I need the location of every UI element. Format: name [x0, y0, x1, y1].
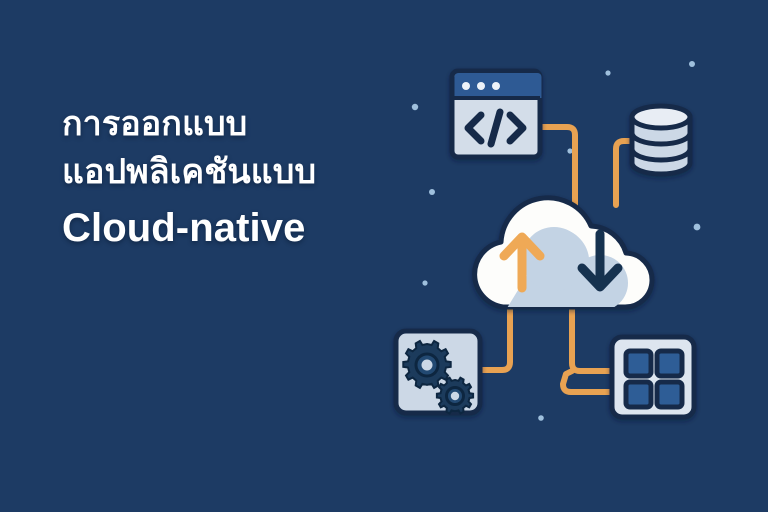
- decor-dot: [429, 189, 435, 195]
- grid-cell-bottom-right: [657, 382, 682, 407]
- window-dot: [492, 82, 500, 90]
- database-disc-top: [632, 106, 690, 128]
- window-dot: [477, 82, 485, 90]
- decor-dot: [567, 148, 572, 153]
- cloud-icon: [475, 198, 652, 313]
- decor-dot: [422, 280, 427, 285]
- grid-cell-top-left: [626, 351, 651, 376]
- code-window-icon: [452, 71, 542, 157]
- grid-cell-top-right: [657, 351, 682, 376]
- gear-small-hole: [451, 392, 459, 400]
- illustration: [0, 0, 768, 512]
- connector-cloud-to-gears: [481, 300, 510, 370]
- decor-dot: [689, 61, 695, 67]
- headline-line-1: การออกแบบ: [62, 100, 422, 148]
- headline-line-2: แอปพลิเคชันแบบ: [62, 148, 422, 196]
- code-window-dots: [462, 82, 500, 90]
- grid-cell-bottom-left: [626, 382, 651, 407]
- decor-dot: [538, 415, 544, 421]
- decor-dot: [694, 224, 701, 231]
- connector-cloud-to-grid-upper: [572, 300, 611, 371]
- window-dot: [462, 82, 470, 90]
- gear-large-hole: [422, 360, 433, 371]
- headline-block: การออกแบบ แอปพลิเคชันแบบ Cloud-native: [62, 100, 422, 256]
- headline-line-3: Cloud-native: [62, 200, 422, 256]
- banner-image: การออกแบบ แอปพลิเคชันแบบ Cloud-native: [0, 0, 768, 512]
- gears-icon: [396, 331, 480, 413]
- grid-icon: [612, 337, 694, 417]
- illustration-svg: [0, 0, 768, 512]
- connector-database-to-cloud: [616, 141, 629, 205]
- database-icon: [632, 106, 690, 174]
- connector-cloud-to-grid-lower: [563, 371, 611, 392]
- decor-dot: [605, 70, 610, 75]
